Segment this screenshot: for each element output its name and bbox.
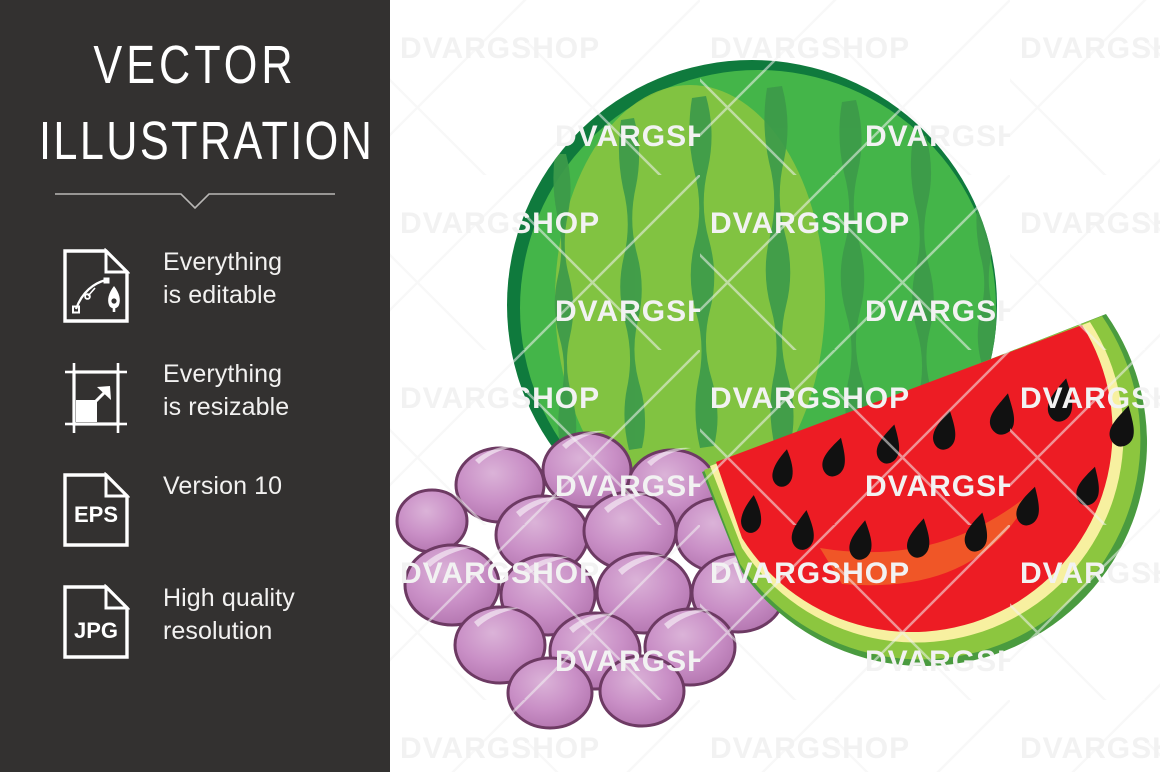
eps-file-icon-label: EPS [74,502,118,527]
resize-arrow-icon [62,360,130,436]
preview-canvas: VECTOR ILLUSTRATION [0,0,1160,772]
feature-text: Everything is resizable [163,358,378,425]
feature-row: JPG High quality resolution [0,584,390,680]
feature-text-line-1: Everything [163,246,378,279]
feature-text-line-1: Version 10 [163,470,378,503]
v-notch-divider [55,186,335,212]
feature-text-line-1: Everything [163,358,378,391]
title-block: VECTOR ILLUSTRATION [0,38,390,168]
fruit-illustration [390,0,1160,772]
feature-row: EPS Version 10 [0,472,390,568]
document-pen-tool-icon [62,248,130,324]
eps-file-icon: EPS [62,472,130,548]
feature-text-line-2: resolution [163,615,378,648]
artwork-canvas: DVARGSHOP DVARGSHOP [390,0,1160,772]
jpg-file-icon: JPG [62,584,130,660]
info-sidebar: VECTOR ILLUSTRATION [0,0,390,772]
page-title-line-2: ILLUSTRATION [39,114,351,168]
feature-text: High quality resolution [163,582,378,649]
feature-text-line-2: is resizable [163,391,378,424]
feature-text-line-1: High quality [163,582,378,615]
feature-row: Everything is resizable [0,360,390,456]
jpg-file-icon-label: JPG [74,618,118,643]
page-title-line-1: VECTOR [39,38,351,92]
feature-row: Everything is editable [0,248,390,344]
feature-text: Version 10 [163,470,378,503]
feature-text-line-2: is editable [163,279,378,312]
feature-text: Everything is editable [163,246,378,313]
